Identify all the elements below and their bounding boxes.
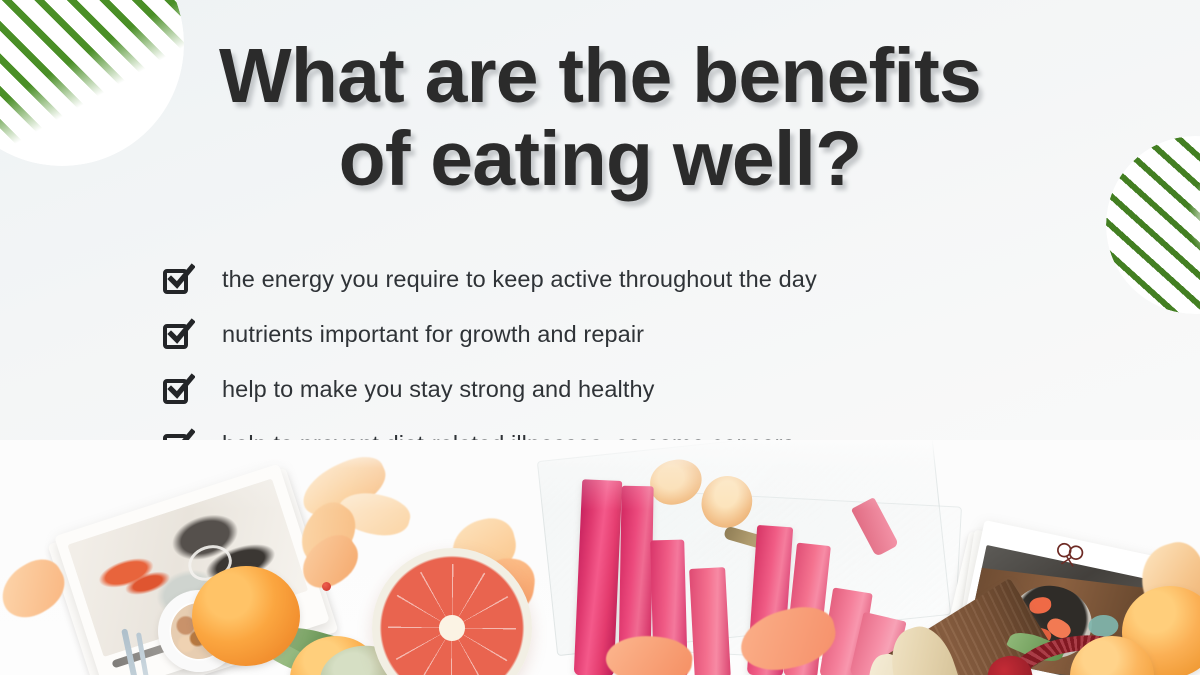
- red-berry-seed: [322, 582, 331, 591]
- checkmark-glyph: [165, 373, 195, 403]
- food-flatlay-photograph: [0, 440, 1200, 675]
- benefits-checklist: the energy you require to keep active th…: [163, 252, 1103, 472]
- list-item[interactable]: nutrients important for growth and repai…: [163, 307, 1103, 362]
- list-item-label: nutrients important for growth and repai…: [222, 321, 644, 348]
- list-item[interactable]: help to make you stay strong and healthy: [163, 362, 1103, 417]
- checkmark-glyph: [165, 318, 195, 348]
- page-title-line-2: of eating well?: [60, 121, 1140, 197]
- checked-checkbox-icon[interactable]: [163, 321, 191, 349]
- orange-fruit: [192, 566, 300, 666]
- citrus-core: [439, 615, 465, 641]
- rhubarb-stalk: [689, 567, 731, 675]
- list-item-label: help to make you stay strong and healthy: [222, 376, 655, 403]
- checkmark-glyph: [165, 263, 195, 293]
- checked-checkbox-icon[interactable]: [163, 376, 191, 404]
- page-title: What are the benefits of eating well?: [0, 38, 1200, 197]
- slide-canvas: What are the benefits of eating well? th…: [0, 0, 1200, 675]
- list-item-label: the energy you require to keep active th…: [222, 266, 817, 293]
- page-title-line-1: What are the benefits: [60, 38, 1140, 114]
- list-item[interactable]: the energy you require to keep active th…: [163, 252, 1103, 307]
- checked-checkbox-icon[interactable]: [163, 266, 191, 294]
